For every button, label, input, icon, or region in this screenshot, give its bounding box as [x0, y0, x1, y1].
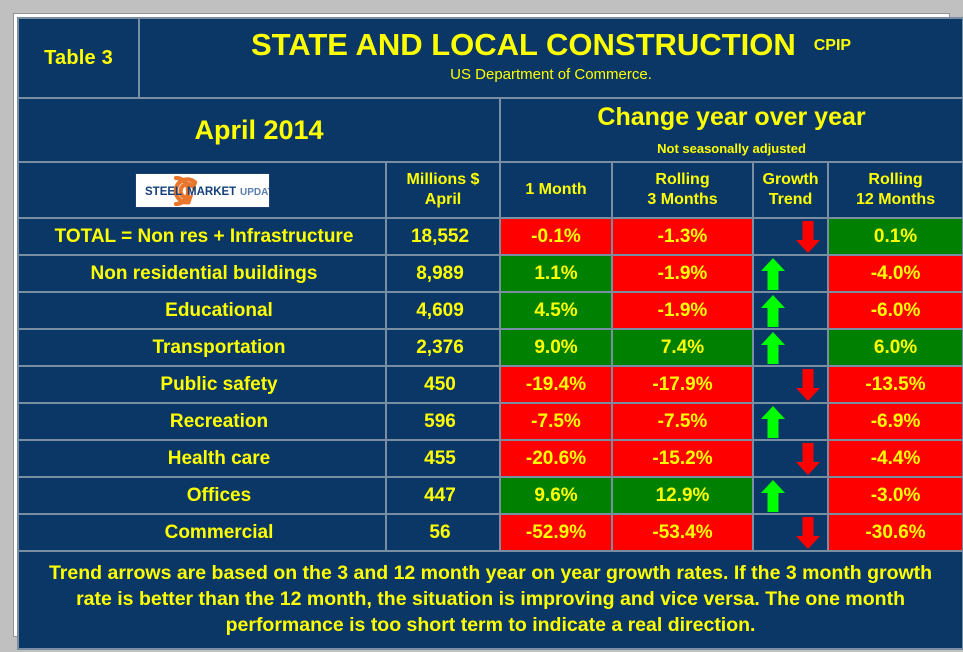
row-growth-trend — [754, 330, 827, 365]
row-value-millions: 450 — [387, 367, 499, 402]
column-header-rolling12-line1: Rolling — [833, 170, 958, 190]
row-growth-trend — [754, 293, 827, 328]
row-growth-trend — [754, 219, 827, 254]
row-rolling-12-months: -30.6% — [829, 515, 962, 550]
row-value-millions: 2,376 — [387, 330, 499, 365]
row-rolling-12-months: 6.0% — [829, 330, 962, 365]
row-one-month: 1.1% — [501, 256, 611, 291]
footnote-text: Trend arrows are based on the 3 and 12 m… — [19, 552, 962, 648]
column-header-row: STEEL MARKET UPDATE Millions $ April 1 M… — [19, 163, 962, 217]
row-growth-trend — [754, 478, 827, 513]
table-row: TOTAL = Non res + Infrastructure18,552-0… — [19, 219, 962, 254]
column-header-rolling3-line1: Rolling — [617, 170, 748, 190]
row-rolling-3-months: -53.4% — [613, 515, 752, 550]
row-rolling-3-months: -7.5% — [613, 404, 752, 439]
row-one-month: -7.5% — [501, 404, 611, 439]
row-rolling-3-months: -1.9% — [613, 256, 752, 291]
row-value-millions: 447 — [387, 478, 499, 513]
row-label: Health care — [19, 441, 385, 476]
row-growth-trend — [754, 515, 827, 550]
title-cell: STATE AND LOCAL CONSTRUCTIONCPIP US Depa… — [140, 19, 962, 97]
change-header-note: Not seasonally adjusted — [505, 141, 958, 156]
column-header-rolling12-line2: 12 Months — [833, 190, 958, 210]
row-growth-trend — [754, 367, 827, 402]
row-value-millions: 56 — [387, 515, 499, 550]
row-one-month: 9.6% — [501, 478, 611, 513]
steel-market-update-logo: STEEL MARKET UPDATE — [135, 173, 270, 208]
column-header-rolling-12: Rolling 12 Months — [829, 163, 962, 217]
table-number-label: Table 3 — [19, 19, 138, 97]
row-growth-trend — [754, 441, 827, 476]
row-value-millions: 18,552 — [387, 219, 499, 254]
footnote-row: Trend arrows are based on the 3 and 12 m… — [19, 552, 962, 648]
change-header-title: Change year over year — [505, 104, 958, 132]
row-one-month: -19.4% — [501, 367, 611, 402]
row-label: Non residential buildings — [19, 256, 385, 291]
row-value-millions: 455 — [387, 441, 499, 476]
column-header-trend-line2: Trend — [758, 190, 823, 210]
logo-word-steel: STEEL — [145, 186, 182, 198]
row-label: Offices — [19, 478, 385, 513]
construction-table: Table 3 STATE AND LOCAL CONSTRUCTIONCPIP… — [17, 17, 963, 650]
row-rolling-3-months: -15.2% — [613, 441, 752, 476]
logo-cell: STEEL MARKET UPDATE — [19, 163, 385, 217]
column-header-growth-trend: Growth Trend — [754, 163, 827, 217]
row-rolling-12-months: -6.9% — [829, 404, 962, 439]
row-rolling-12-months: 0.1% — [829, 219, 962, 254]
row-one-month: -0.1% — [501, 219, 611, 254]
table-row: Recreation596-7.5%-7.5%-6.9% — [19, 404, 962, 439]
table-row: Offices4479.6%12.9%-3.0% — [19, 478, 962, 513]
row-one-month: -20.6% — [501, 441, 611, 476]
row-rolling-12-months: -13.5% — [829, 367, 962, 402]
table-row: Non residential buildings8,9891.1%-1.9%-… — [19, 256, 962, 291]
column-header-value-line2: April — [391, 190, 495, 210]
title-row: Table 3 STATE AND LOCAL CONSTRUCTIONCPIP… — [19, 19, 962, 97]
row-value-millions: 596 — [387, 404, 499, 439]
row-rolling-3-months: 12.9% — [613, 478, 752, 513]
row-rolling-12-months: -4.0% — [829, 256, 962, 291]
row-growth-trend — [754, 256, 827, 291]
row-growth-trend — [754, 404, 827, 439]
period-label: April 2014 — [19, 99, 499, 161]
row-rolling-3-months: -17.9% — [613, 367, 752, 402]
column-header-trend-line1: Growth — [758, 170, 823, 190]
column-header-rolling-3: Rolling 3 Months — [613, 163, 752, 217]
row-rolling-3-months: -1.3% — [613, 219, 752, 254]
row-one-month: 4.5% — [501, 293, 611, 328]
column-header-one-month: 1 Month — [501, 163, 611, 217]
row-label: Public safety — [19, 367, 385, 402]
row-label: Transportation — [19, 330, 385, 365]
row-rolling-12-months: -4.4% — [829, 441, 962, 476]
row-one-month: 9.0% — [501, 330, 611, 365]
slide-panel: Table 3 STATE AND LOCAL CONSTRUCTIONCPIP… — [14, 14, 949, 636]
row-rolling-3-months: 7.4% — [613, 330, 752, 365]
row-rolling-12-months: -6.0% — [829, 293, 962, 328]
row-label: Commercial — [19, 515, 385, 550]
logo-word-market: MARKET — [187, 186, 236, 198]
subtitle-text: US Department of Commerce. — [146, 66, 956, 83]
column-header-rolling3-line2: 3 Months — [617, 190, 748, 210]
row-rolling-12-months: -3.0% — [829, 478, 962, 513]
change-header-cell: Change year over year Not seasonally adj… — [501, 99, 962, 161]
table-body: Table 3 STATE AND LOCAL CONSTRUCTIONCPIP… — [19, 19, 962, 648]
row-rolling-3-months: -1.9% — [613, 293, 752, 328]
main-title-line: STATE AND LOCAL CONSTRUCTIONCPIP — [146, 29, 956, 62]
row-label: TOTAL = Non res + Infrastructure — [19, 219, 385, 254]
table-row: Health care455-20.6%-15.2%-4.4% — [19, 441, 962, 476]
row-label: Recreation — [19, 404, 385, 439]
table-row: Public safety450-19.4%-17.9%-13.5% — [19, 367, 962, 402]
row-one-month: -52.9% — [501, 515, 611, 550]
row-label: Educational — [19, 293, 385, 328]
main-title-text: STATE AND LOCAL CONSTRUCTION — [251, 27, 796, 62]
row-value-millions: 8,989 — [387, 256, 499, 291]
cpip-label: CPIP — [814, 37, 851, 54]
column-header-value-line1: Millions $ — [391, 170, 495, 190]
table-row: Transportation2,3769.0%7.4%6.0% — [19, 330, 962, 365]
table-row: Educational4,6094.5%-1.9%-6.0% — [19, 293, 962, 328]
period-row: April 2014 Change year over year Not sea… — [19, 99, 962, 161]
column-header-value: Millions $ April — [387, 163, 499, 217]
table-row: Commercial56-52.9%-53.4%-30.6% — [19, 515, 962, 550]
logo-graphic: STEEL MARKET UPDATE — [136, 174, 269, 207]
logo-word-update: UPDATE — [240, 187, 269, 198]
row-value-millions: 4,609 — [387, 293, 499, 328]
